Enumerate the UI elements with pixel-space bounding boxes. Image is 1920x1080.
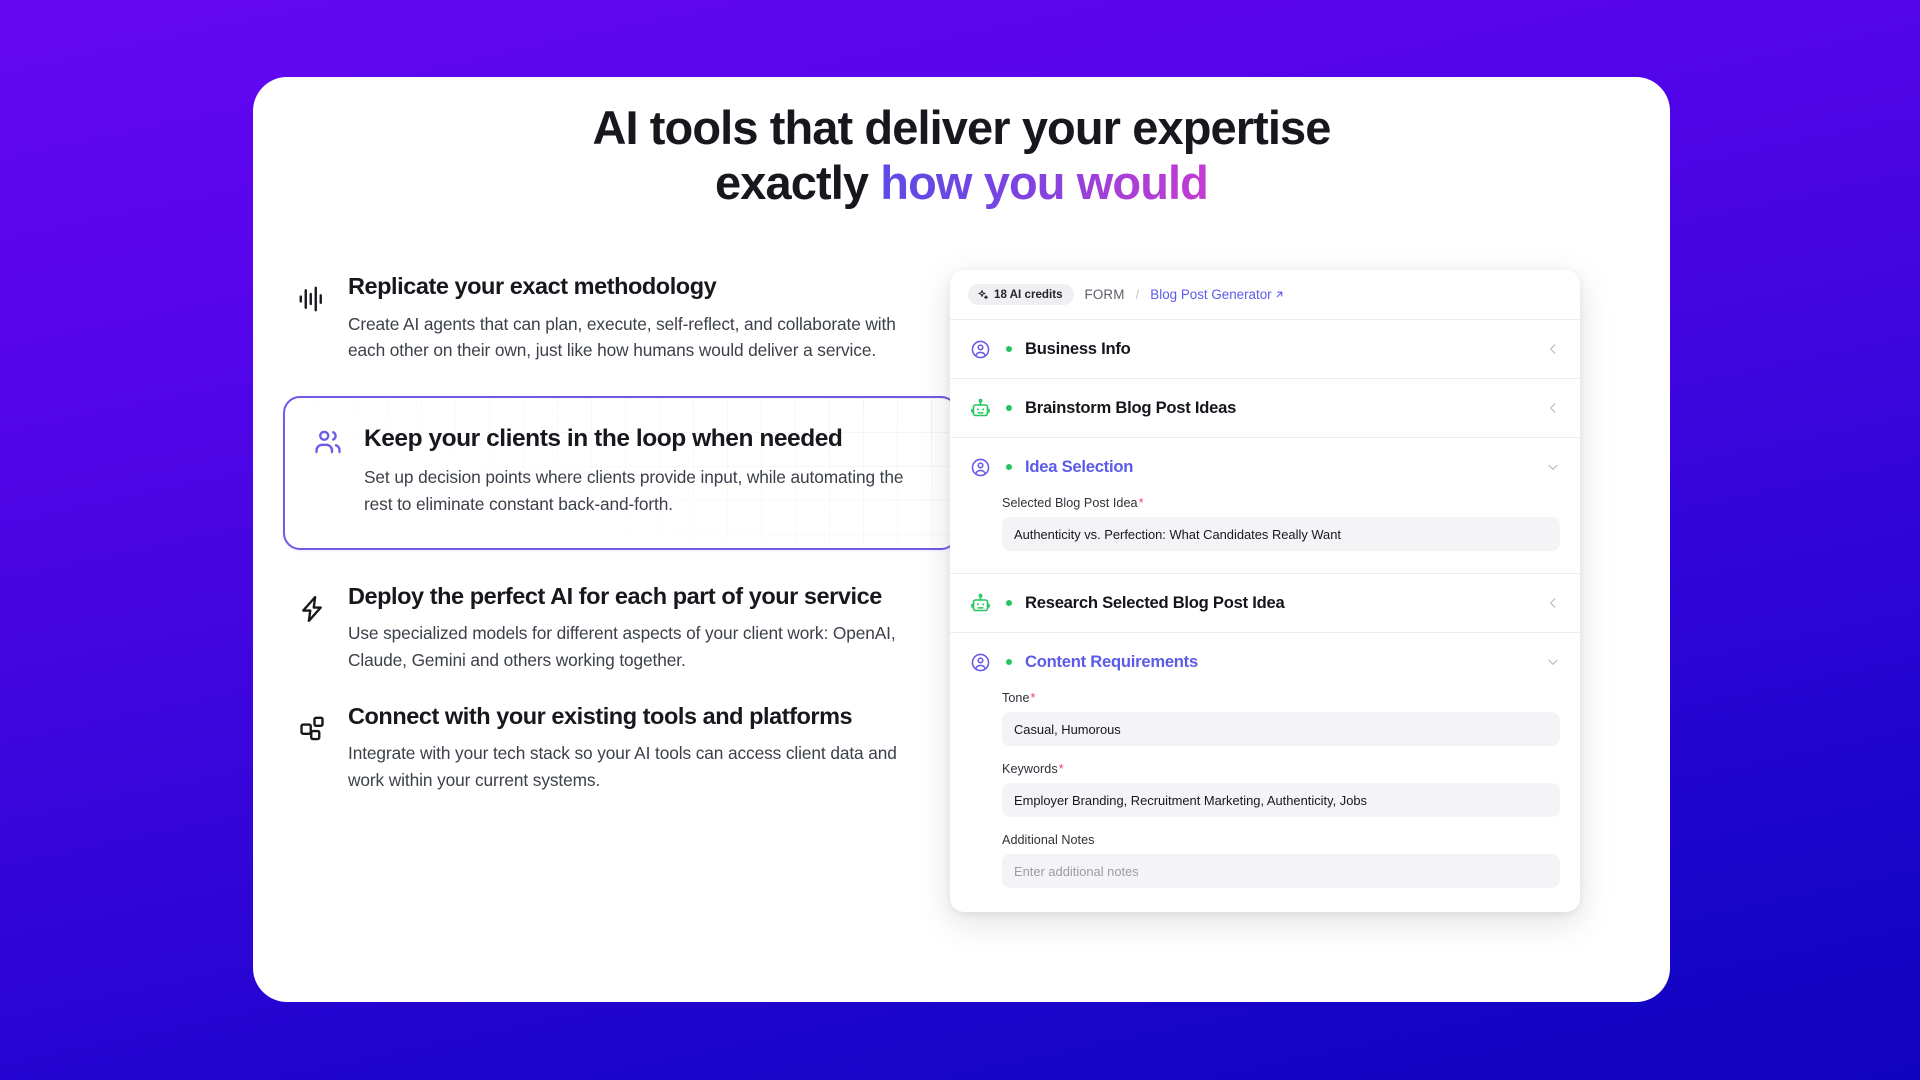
- user-circle-icon: [970, 339, 991, 360]
- status-dot: [1006, 346, 1012, 352]
- field-additional-notes: Additional Notes Enter additional notes: [1002, 833, 1560, 888]
- accordion-header[interactable]: Brainstorm Blog Post Ideas: [950, 379, 1580, 437]
- accordion-section-brainstorm-blog-post-ideas: Brainstorm Blog Post Ideas: [950, 379, 1580, 438]
- additional-notes-input[interactable]: Enter additional notes: [1002, 854, 1560, 888]
- feature-description: Use specialized models for different asp…: [348, 620, 918, 674]
- chevron-left-icon[interactable]: [1546, 401, 1560, 415]
- blocks-icon: [297, 714, 327, 744]
- chevron-down-icon[interactable]: [1546, 460, 1560, 474]
- headline-line-1: AI tools that deliver your expertise: [253, 101, 1670, 156]
- feature-title: Deploy the perfect AI for each part of y…: [348, 582, 918, 612]
- headline-line-2: exactly how you would: [253, 156, 1670, 211]
- accordion-title: Business Info: [1025, 339, 1533, 359]
- field-label-text: Additional Notes: [1002, 833, 1095, 847]
- form-app-panel: 18 AI credits FORM / Blog Post Generator: [950, 270, 1580, 912]
- headline-gradient: how you would: [880, 156, 1208, 209]
- accordion-header[interactable]: Business Info: [950, 320, 1580, 378]
- page-title: AI tools that deliver your expertise exa…: [253, 77, 1670, 211]
- field-label-text: Selected Blog Post Idea: [1002, 496, 1138, 510]
- ai-credits-badge[interactable]: 18 AI credits: [968, 284, 1074, 305]
- feature-item-deploy-perfect-ai[interactable]: Deploy the perfect AI for each part of y…: [283, 572, 958, 684]
- feature-title: Keep your clients in the loop when neede…: [364, 424, 916, 455]
- breadcrumb-root[interactable]: FORM: [1085, 287, 1125, 302]
- required-asterisk: *: [1139, 496, 1144, 510]
- feature-list: Replicate your exact methodology Create …: [253, 262, 958, 804]
- bot-icon: [970, 593, 991, 614]
- required-asterisk: *: [1059, 762, 1064, 776]
- audio-waveform-icon: [297, 284, 327, 314]
- breadcrumb-separator: /: [1136, 287, 1140, 302]
- accordion-title: Idea Selection: [1025, 457, 1533, 477]
- chevron-down-icon[interactable]: [1546, 655, 1560, 669]
- field-label: Keywords*: [1002, 762, 1560, 776]
- feature-item-keep-clients-in-loop[interactable]: Keep your clients in the loop when neede…: [283, 396, 958, 549]
- content-columns: Replicate your exact methodology Create …: [253, 262, 1670, 912]
- status-dot: [1006, 464, 1012, 470]
- accordion-title: Brainstorm Blog Post Ideas: [1025, 398, 1533, 418]
- field-label: Additional Notes: [1002, 833, 1560, 847]
- accordion-section-content-requirements: Content Requirements Tone* Casual, Humor…: [950, 633, 1580, 910]
- field-tone: Tone* Casual, Humorous: [1002, 691, 1560, 746]
- accordion-header[interactable]: Idea Selection: [950, 438, 1580, 496]
- app-topbar: 18 AI credits FORM / Blog Post Generator: [950, 270, 1580, 320]
- accordion-section-research-selected-blog-post-idea: Research Selected Blog Post Idea: [950, 574, 1580, 633]
- zap-icon: [297, 594, 327, 624]
- status-dot: [1006, 600, 1012, 606]
- accordion-section-business-info: Business Info: [950, 320, 1580, 379]
- feature-item-connect-existing-tools[interactable]: Connect with your existing tools and pla…: [283, 692, 958, 804]
- field-label-text: Tone: [1002, 691, 1030, 705]
- users-icon: [313, 427, 343, 457]
- accordion-content: Selected Blog Post Idea* Authenticity vs…: [950, 496, 1580, 573]
- sparkles-icon: [977, 289, 989, 301]
- chevron-left-icon[interactable]: [1546, 596, 1560, 610]
- feature-item-replicate-methodology[interactable]: Replicate your exact methodology Create …: [283, 262, 958, 374]
- accordion-header[interactable]: Research Selected Blog Post Idea: [950, 574, 1580, 632]
- status-dot: [1006, 405, 1012, 411]
- accordion-title: Research Selected Blog Post Idea: [1025, 593, 1533, 613]
- user-circle-icon: [970, 457, 991, 478]
- app-preview-wrapper: 18 AI credits FORM / Blog Post Generator: [950, 262, 1670, 912]
- feature-description: Set up decision points where clients pro…: [364, 464, 916, 518]
- field-selected-blog-post-idea: Selected Blog Post Idea* Authenticity vs…: [1002, 496, 1560, 551]
- field-label-text: Keywords: [1002, 762, 1058, 776]
- field-label: Tone*: [1002, 691, 1560, 705]
- breadcrumb-current-link[interactable]: Blog Post Generator: [1150, 287, 1284, 302]
- tone-input[interactable]: Casual, Humorous: [1002, 712, 1560, 746]
- keywords-input[interactable]: Employer Branding, Recruitment Marketing…: [1002, 783, 1560, 817]
- accordion-content: Tone* Casual, Humorous Keywords* Employe…: [950, 691, 1580, 910]
- required-asterisk: *: [1031, 691, 1036, 705]
- accordion-title: Content Requirements: [1025, 652, 1533, 672]
- accordion-section-idea-selection: Idea Selection Selected Blog Post Idea* …: [950, 438, 1580, 574]
- field-keywords: Keywords* Employer Branding, Recruitment…: [1002, 762, 1560, 817]
- arrow-up-right-icon: [1274, 289, 1285, 300]
- feature-description: Integrate with your tech stack so your A…: [348, 740, 918, 794]
- headline-plain: exactly: [715, 156, 880, 209]
- bot-icon: [970, 398, 991, 419]
- feature-title: Connect with your existing tools and pla…: [348, 702, 918, 732]
- user-circle-icon: [970, 652, 991, 673]
- accordion-header[interactable]: Content Requirements: [950, 633, 1580, 691]
- status-dot: [1006, 659, 1012, 665]
- hero-card: AI tools that deliver your expertise exa…: [253, 77, 1670, 1002]
- breadcrumb-current-label: Blog Post Generator: [1150, 287, 1271, 302]
- feature-description: Create AI agents that can plan, execute,…: [348, 311, 918, 365]
- ai-credits-label: 18 AI credits: [994, 288, 1063, 301]
- chevron-left-icon[interactable]: [1546, 342, 1560, 356]
- feature-title: Replicate your exact methodology: [348, 272, 918, 302]
- field-label: Selected Blog Post Idea*: [1002, 496, 1560, 510]
- selected-blog-post-idea-input[interactable]: Authenticity vs. Perfection: What Candid…: [1002, 517, 1560, 551]
